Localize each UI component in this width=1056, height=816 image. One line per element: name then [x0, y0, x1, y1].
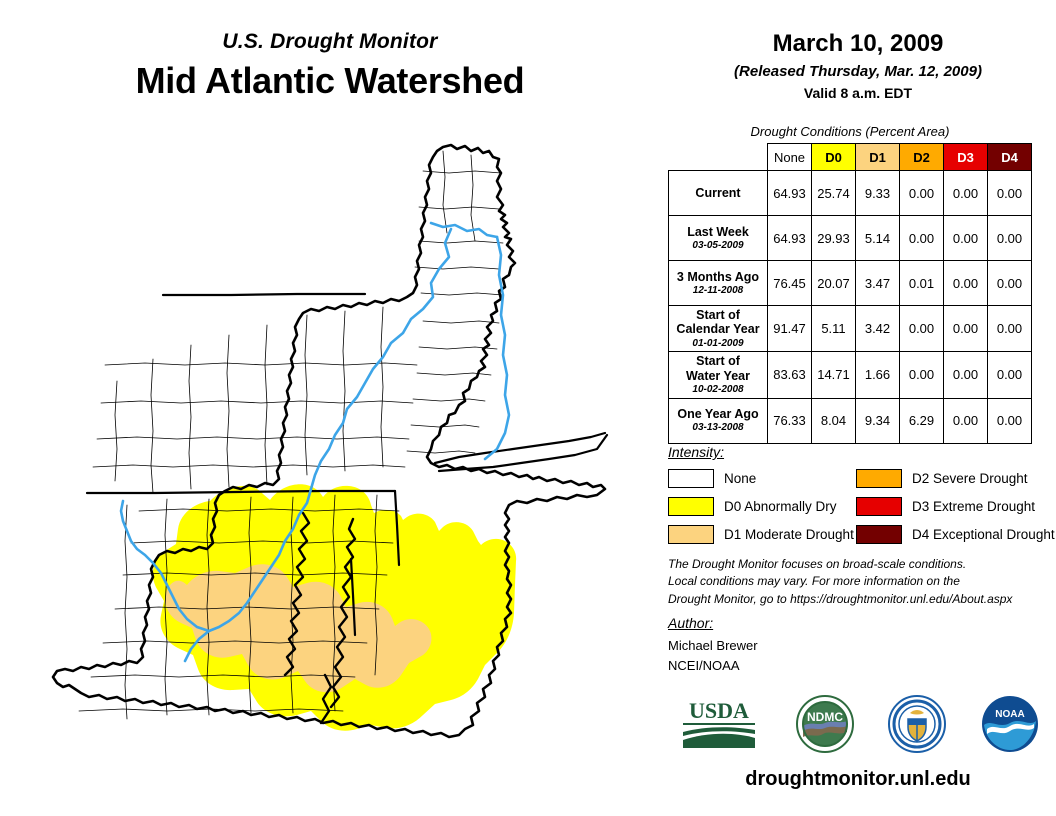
- table-row-label: One Year Ago03-13-2008: [669, 398, 768, 443]
- usda-wordmark: USDA: [689, 698, 749, 723]
- legend-label: D3 Extreme Drought: [912, 499, 1035, 514]
- intensity-heading: Intensity:: [668, 444, 724, 460]
- usdoc-seal: [888, 695, 946, 758]
- table-cell-d4: 0.00: [988, 306, 1032, 352]
- table-cell-d2: 6.29: [900, 398, 944, 443]
- noaa-wordmark: NOAA: [995, 709, 1024, 720]
- author-heading: Author:: [668, 615, 713, 631]
- disclaimer-text: The Drought Monitor focuses on broad-sca…: [668, 556, 1048, 608]
- table-row-label: Start ofCalendar Year01-01-2009: [669, 306, 768, 352]
- legend-item: D4 Exceptional Drought: [856, 522, 1055, 547]
- table-row-label: Current: [669, 171, 768, 216]
- legend-item: D0 Abnormally Dry: [668, 494, 854, 519]
- table-row: Start ofWater Year10-02-200883.6314.711.…: [669, 352, 1032, 398]
- table-row: Last Week03-05-200964.9329.935.140.000.0…: [669, 216, 1032, 261]
- date-block: March 10, 2009 (Released Thursday, Mar. …: [660, 30, 1056, 101]
- ndmc-logo: NDMC: [796, 695, 854, 758]
- legend-label: D4 Exceptional Drought: [912, 527, 1055, 542]
- table-row: Start ofCalendar Year01-01-200991.475.11…: [669, 306, 1032, 352]
- table-row: One Year Ago03-13-200876.338.049.346.290…: [669, 398, 1032, 443]
- ndmc-wordmark: NDMC: [807, 710, 843, 724]
- watershed-map-svg[interactable]: [35, 115, 645, 755]
- table-cell-d3: 0.00: [944, 306, 988, 352]
- site-url[interactable]: droughtmonitor.unl.edu: [660, 768, 1056, 791]
- table-cell-none: 64.93: [768, 216, 812, 261]
- table-column-header-d3: D3: [944, 144, 988, 171]
- table-cell-d1: 5.14: [856, 216, 900, 261]
- table-row-date: 10-02-2008: [670, 384, 766, 396]
- table-row-label: Last Week03-05-2009: [669, 216, 768, 261]
- legend-column-left: NoneD0 Abnormally DryD1 Moderate Drought: [668, 466, 854, 550]
- table-cell-d3: 0.00: [944, 352, 988, 398]
- table-row-date: 12-11-2008: [670, 285, 766, 297]
- disclaimer-line-2: Local conditions may vary. For more info…: [668, 573, 1048, 590]
- table-cell-d3: 0.00: [944, 216, 988, 261]
- table-cell-d4: 0.00: [988, 261, 1032, 306]
- table-cell-d3: 0.00: [944, 261, 988, 306]
- legend-item: None: [668, 466, 854, 491]
- noaa-logo: NOAA: [981, 695, 1039, 758]
- table-cell-d1: 3.47: [856, 261, 900, 306]
- legend-item: D2 Severe Drought: [856, 466, 1055, 491]
- legend-label: None: [724, 471, 756, 486]
- valid-time: Valid 8 a.m. EDT: [660, 85, 1056, 101]
- table-cell-d2: 0.00: [900, 306, 944, 352]
- disclaimer-line-1: The Drought Monitor focuses on broad-sca…: [668, 556, 1048, 573]
- table-row-label: 3 Months Ago12-11-2008: [669, 261, 768, 306]
- legend-swatch: [668, 497, 714, 516]
- table-cell-d0: 14.71: [812, 352, 856, 398]
- legend-swatch: [668, 469, 714, 488]
- legend-item: D1 Moderate Drought: [668, 522, 854, 547]
- legend-label: D0 Abnormally Dry: [724, 499, 837, 514]
- page-title: Mid Atlantic Watershed: [0, 60, 660, 102]
- report-date: March 10, 2009: [660, 30, 1056, 58]
- table-caption: Drought Conditions (Percent Area): [660, 124, 1040, 139]
- table-cell-d0: 29.93: [812, 216, 856, 261]
- table-corner-cell: [669, 144, 768, 171]
- table-cell-d2: 0.00: [900, 216, 944, 261]
- drought-conditions-table: NoneD0D1D2D3D4 Current64.9325.749.330.00…: [668, 143, 1032, 444]
- table-cell-d2: 0.01: [900, 261, 944, 306]
- table-cell-d0: 8.04: [812, 398, 856, 443]
- table-cell-d3: 0.00: [944, 171, 988, 216]
- table-column-header-d0: D0: [812, 144, 856, 171]
- author-info: Michael Brewer NCEI/NOAA: [668, 636, 758, 675]
- table-cell-d4: 0.00: [988, 171, 1032, 216]
- table-cell-d0: 25.74: [812, 171, 856, 216]
- table-cell-none: 64.93: [768, 171, 812, 216]
- info-panel: March 10, 2009 (Released Thursday, Mar. …: [660, 0, 1056, 816]
- table-cell-none: 76.45: [768, 261, 812, 306]
- map-supertitle: U.S. Drought Monitor: [0, 30, 660, 54]
- disclaimer-line-3: Drought Monitor, go to https://droughtmo…: [668, 591, 1048, 608]
- table-cell-none: 91.47: [768, 306, 812, 352]
- logo-row: USDA NDMC: [660, 690, 1056, 762]
- table-row: Current64.9325.749.330.000.000.00: [669, 171, 1032, 216]
- watershed-map[interactable]: [35, 115, 645, 755]
- author-affiliation: NCEI/NOAA: [668, 656, 758, 676]
- table-cell-d4: 0.00: [988, 352, 1032, 398]
- table-cell-d3: 0.00: [944, 398, 988, 443]
- usda-logo: USDA: [677, 696, 761, 757]
- release-date: (Released Thursday, Mar. 12, 2009): [660, 63, 1056, 80]
- legend-column-right: D2 Severe DroughtD3 Extreme DroughtD4 Ex…: [856, 466, 1055, 550]
- table-column-header-none: None: [768, 144, 812, 171]
- table-cell-d1: 9.33: [856, 171, 900, 216]
- table-row-date: 03-13-2008: [670, 422, 766, 434]
- table-cell-d4: 0.00: [988, 216, 1032, 261]
- legend-swatch: [856, 469, 902, 488]
- table-row-label: Start ofWater Year10-02-2008: [669, 352, 768, 398]
- table-header-row: NoneD0D1D2D3D4: [669, 144, 1032, 171]
- table-row-date: 01-01-2009: [670, 338, 766, 350]
- table-cell-d2: 0.00: [900, 171, 944, 216]
- map-panel: U.S. Drought Monitor Mid Atlantic Waters…: [0, 0, 660, 816]
- table-cell-none: 76.33: [768, 398, 812, 443]
- legend-item: D3 Extreme Drought: [856, 494, 1055, 519]
- table-cell-d0: 20.07: [812, 261, 856, 306]
- table-cell-d1: 3.42: [856, 306, 900, 352]
- table-row: 3 Months Ago12-11-200876.4520.073.470.01…: [669, 261, 1032, 306]
- table-cell-d1: 1.66: [856, 352, 900, 398]
- legend-swatch: [856, 525, 902, 544]
- table-cell-d2: 0.00: [900, 352, 944, 398]
- table-column-header-d2: D2: [900, 144, 944, 171]
- author-name: Michael Brewer: [668, 636, 758, 656]
- table-cell-none: 83.63: [768, 352, 812, 398]
- legend-label: D1 Moderate Drought: [724, 527, 854, 542]
- table-column-header-d1: D1: [856, 144, 900, 171]
- table-cell-d0: 5.11: [812, 306, 856, 352]
- map-title-block: U.S. Drought Monitor Mid Atlantic Waters…: [0, 30, 660, 102]
- legend-swatch: [856, 497, 902, 516]
- table-column-header-d4: D4: [988, 144, 1032, 171]
- legend-label: D2 Severe Drought: [912, 471, 1028, 486]
- legend-swatch: [668, 525, 714, 544]
- table-row-date: 03-05-2009: [670, 240, 766, 252]
- table-cell-d1: 9.34: [856, 398, 900, 443]
- table-cell-d4: 0.00: [988, 398, 1032, 443]
- table-body: Current64.9325.749.330.000.000.00Last We…: [669, 171, 1032, 444]
